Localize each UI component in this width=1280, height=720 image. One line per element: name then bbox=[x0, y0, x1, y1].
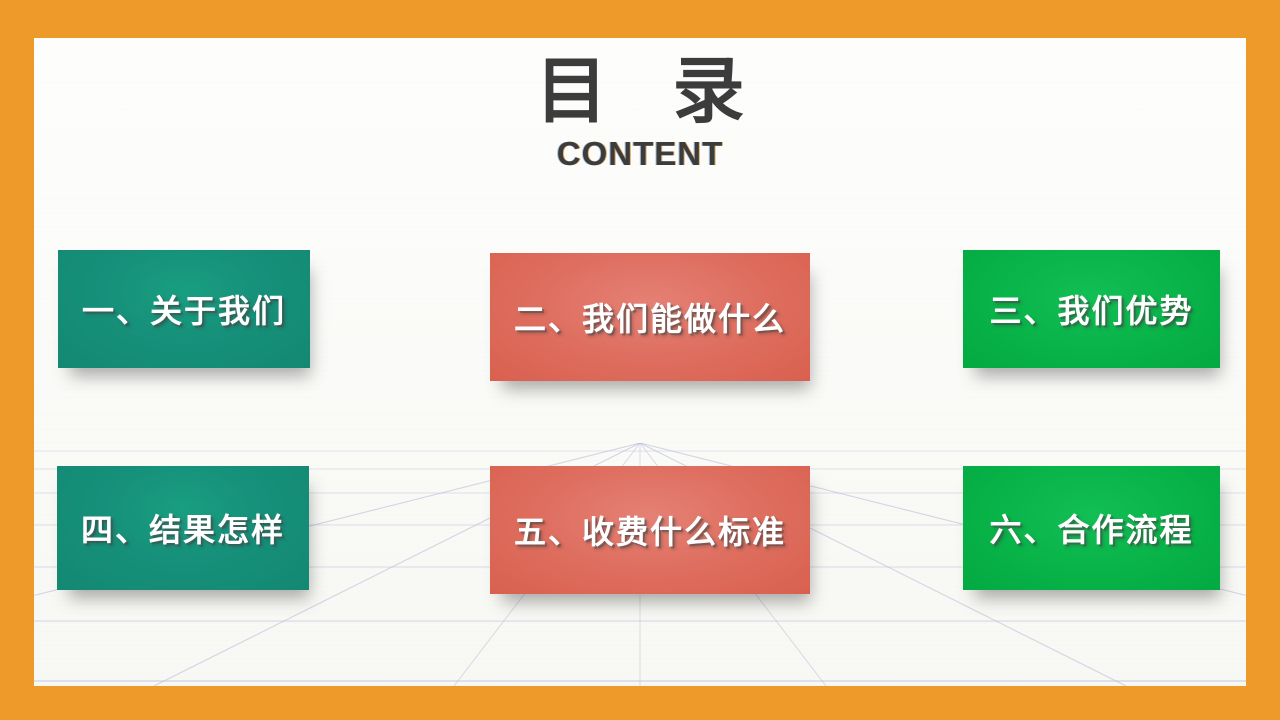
agenda-card-6[interactable]: 六、合作流程 bbox=[963, 466, 1220, 590]
agenda-card-4[interactable]: 四、结果怎样 bbox=[57, 466, 309, 590]
page-title: 目 录 bbox=[34, 52, 1246, 131]
slide-canvas: 目 录 CONTENT 一、关于我们 二、我们能做什么 三、我们优势 四、结果怎… bbox=[34, 38, 1246, 686]
agenda-card-label: 二、我们能做什么 bbox=[514, 294, 786, 340]
agenda-card-label: 三、我们优势 bbox=[989, 286, 1193, 332]
title-block: 目 录 CONTENT bbox=[34, 52, 1246, 173]
agenda-card-2[interactable]: 二、我们能做什么 bbox=[490, 253, 810, 381]
slide-frame: 目 录 CONTENT 一、关于我们 二、我们能做什么 三、我们优势 四、结果怎… bbox=[0, 0, 1280, 720]
page-subtitle: CONTENT bbox=[34, 135, 1246, 173]
agenda-card-label: 五、收费什么标准 bbox=[514, 507, 786, 553]
agenda-card-label: 六、合作流程 bbox=[989, 505, 1193, 551]
agenda-card-1[interactable]: 一、关于我们 bbox=[58, 250, 310, 368]
agenda-card-label: 一、关于我们 bbox=[82, 286, 286, 332]
agenda-card-3[interactable]: 三、我们优势 bbox=[963, 250, 1220, 368]
agenda-card-5[interactable]: 五、收费什么标准 bbox=[490, 466, 810, 594]
agenda-card-label: 四、结果怎样 bbox=[81, 505, 285, 551]
